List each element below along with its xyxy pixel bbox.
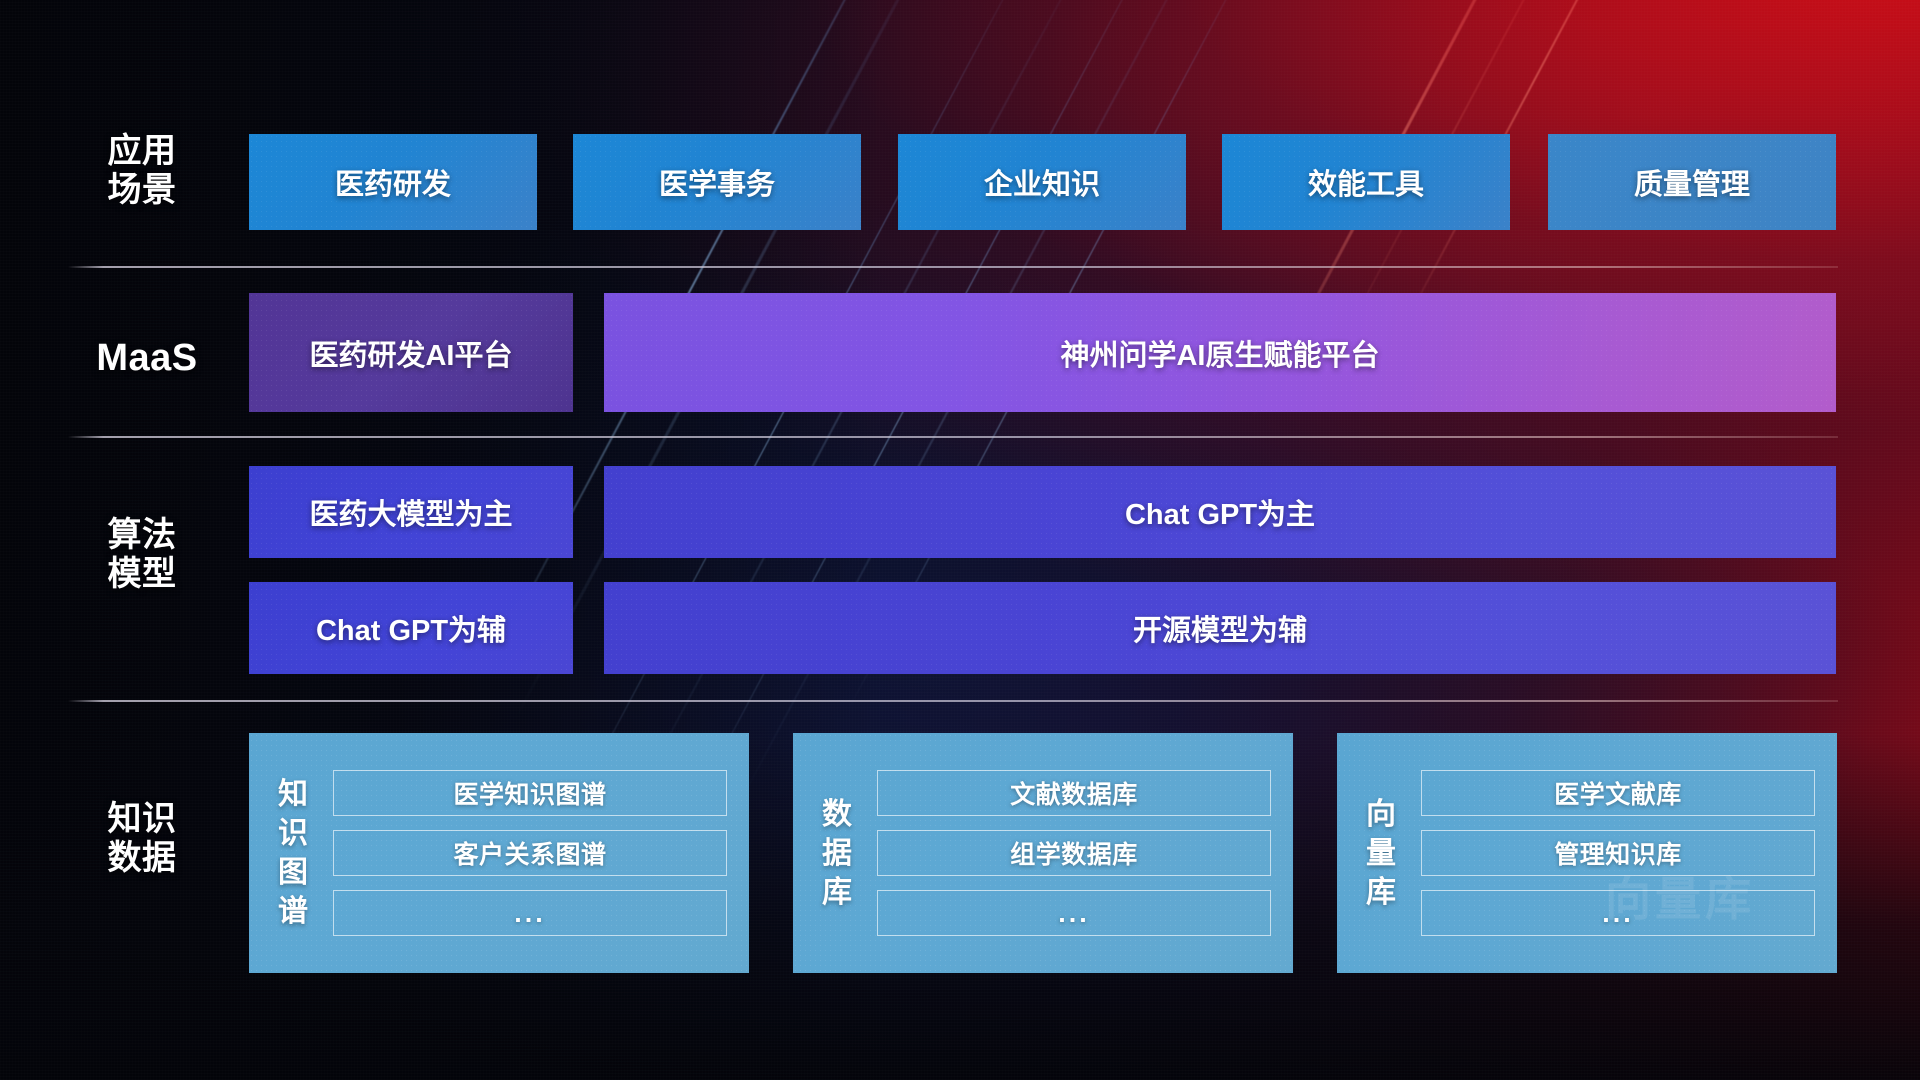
row-label-application-scenarios: 应用 场景 <box>62 132 222 211</box>
maas-platform-box-left[interactable]: 医药研发AI平台 <box>249 293 573 412</box>
app-scenario-label-3: 企业知识 <box>984 161 1100 203</box>
maas-platform-label-right: 神州问学AI原生赋能平台 <box>1060 332 1379 374</box>
row-label-knowledge-data: 知识 数据 <box>62 800 222 879</box>
knowledge-item-2-3[interactable]: ... <box>877 890 1271 936</box>
knowledge-item-1-2[interactable]: 客户关系图谱 <box>333 830 727 876</box>
knowledge-item-1-3[interactable]: ... <box>333 890 727 936</box>
algorithm-box-right-1[interactable]: Chat GPT为主 <box>604 466 1836 558</box>
knowledge-item-2-2[interactable]: 组学数据库 <box>877 830 1271 876</box>
maas-platform-box-right[interactable]: 神州问学AI原生赋能平台 <box>604 293 1836 412</box>
app-scenario-label-1: 医药研发 <box>335 161 451 203</box>
knowledge-group-title-1: 知 识 图 谱 <box>267 775 319 931</box>
app-scenario-box-2[interactable]: 医学事务 <box>573 134 861 230</box>
algorithm-label-right-1: Chat GPT为主 <box>1125 491 1315 533</box>
algorithm-label-left-2: Chat GPT为辅 <box>316 607 506 649</box>
app-scenario-box-3[interactable]: 企业知识 <box>898 134 1186 230</box>
app-scenario-box-5[interactable]: 质量管理 <box>1548 134 1836 230</box>
app-scenario-box-1[interactable]: 医药研发 <box>249 134 537 230</box>
knowledge-group-title-2: 数 据 库 <box>811 795 863 912</box>
knowledge-item-3-2[interactable]: 管理知识库 <box>1421 830 1815 876</box>
knowledge-group-vector-store[interactable]: 向量库 向 量 库 医学文献库 管理知识库 ... <box>1337 733 1837 973</box>
maas-platform-label-left: 医药研发AI平台 <box>309 332 512 374</box>
app-scenario-label-2: 医学事务 <box>659 161 775 203</box>
algorithm-box-right-2[interactable]: 开源模型为辅 <box>604 582 1836 674</box>
knowledge-group-knowledge-graph[interactable]: 知 识 图 谱 医学知识图谱 客户关系图谱 ... <box>249 733 749 973</box>
row-label-maas: MaaS <box>62 336 232 380</box>
algorithm-box-left-2[interactable]: Chat GPT为辅 <box>249 582 573 674</box>
knowledge-group-items-1: 医学知识图谱 客户关系图谱 ... <box>333 770 727 936</box>
knowledge-group-title-3: 向 量 库 <box>1355 795 1407 912</box>
knowledge-item-3-3[interactable]: ... <box>1421 890 1815 936</box>
knowledge-item-3-1[interactable]: 医学文献库 <box>1421 770 1815 816</box>
app-scenario-box-4[interactable]: 效能工具 <box>1222 134 1510 230</box>
app-scenario-label-4: 效能工具 <box>1308 161 1424 203</box>
algorithm-label-left-1: 医药大模型为主 <box>309 491 512 533</box>
algorithm-box-left-1[interactable]: 医药大模型为主 <box>249 466 573 558</box>
knowledge-group-items-2: 文献数据库 组学数据库 ... <box>877 770 1271 936</box>
knowledge-group-database[interactable]: 数 据 库 文献数据库 组学数据库 ... <box>793 733 1293 973</box>
divider-after-application-scenarios <box>68 266 1838 268</box>
algorithm-label-right-2: 开源模型为辅 <box>1133 607 1307 649</box>
slide-canvas: 应用 场景 医药研发 医学事务 企业知识 效能工具 质量管理 MaaS 医药研发… <box>0 0 1920 1080</box>
knowledge-item-2-1[interactable]: 文献数据库 <box>877 770 1271 816</box>
knowledge-item-1-1[interactable]: 医学知识图谱 <box>333 770 727 816</box>
row-label-algorithm-models: 算法 模型 <box>62 516 222 595</box>
knowledge-group-items-3: 医学文献库 管理知识库 ... <box>1421 770 1815 936</box>
app-scenario-label-5: 质量管理 <box>1634 161 1750 203</box>
divider-after-maas <box>68 436 1838 438</box>
divider-after-algorithm-models <box>68 700 1838 702</box>
